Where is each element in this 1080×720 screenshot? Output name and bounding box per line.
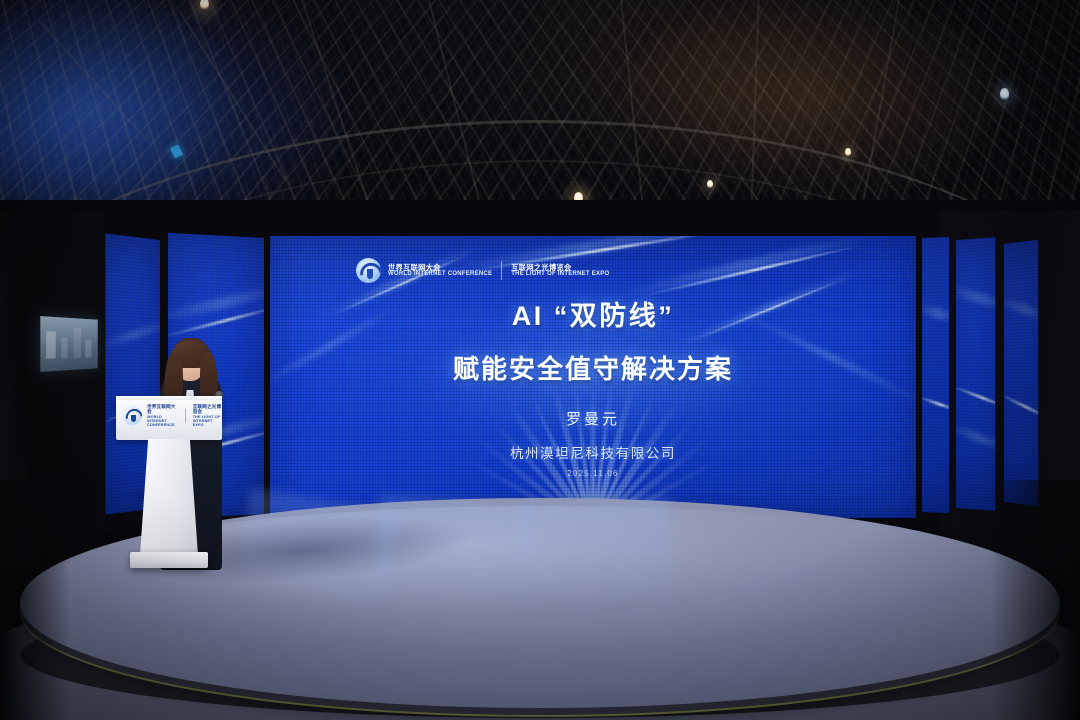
led-panel-right-outer xyxy=(1004,240,1038,507)
wic-logo-right-text: 互联网之光博览会 The Light of Internet Expo xyxy=(511,264,609,278)
led-panel-right-inner xyxy=(922,237,949,513)
podium-expo-en: The Light of Internet Expo xyxy=(193,415,222,427)
podium-logo: 世界互联网大会 World Internet Conference 互联网之光博… xyxy=(123,405,222,427)
podium-logo-left-text: 世界互联网大会 World Internet Conference xyxy=(147,405,178,427)
slide-title-line1: AI “双防线” xyxy=(270,294,916,333)
podium-logo-right-text: 互联网之光博览会 The Light of Internet Expo xyxy=(193,405,222,427)
led-light-streaks xyxy=(956,237,995,511)
wic-logo-en: World Internet Conference xyxy=(388,271,492,277)
conference-stage-scene: 世界互联网大会 World Internet Conference 互联网之光博… xyxy=(0,0,1080,720)
led-panel-right-middle xyxy=(956,237,995,511)
logo-divider xyxy=(501,261,502,280)
slide-footer-block: 杭州漠坦尼科技有限公司 2025.11.06 xyxy=(270,442,916,478)
wic-logo: 世界互联网大会 World Internet Conference 互联网之光博… xyxy=(356,258,609,283)
slide-title-block: AI “双防线” 赋能安全值守解决方案 罗曼元 xyxy=(270,294,916,429)
ceiling-spotlight xyxy=(707,180,713,189)
wic-swirl-icon xyxy=(123,406,142,425)
expo-logo-cn: 互联网之光博览会 xyxy=(511,264,609,272)
led-panel-main: 世界互联网大会 World Internet Conference 互联网之光博… xyxy=(270,236,916,518)
podium-expo-cn: 互联网之光博览会 xyxy=(193,405,222,415)
podium: 世界互联网大会 World Internet Conference 互联网之光博… xyxy=(116,396,222,572)
podium-base xyxy=(130,552,208,568)
ceiling-spotlight xyxy=(845,148,851,157)
slide-company-name: 杭州漠坦尼科技有限公司 xyxy=(270,442,916,462)
ceiling-spotlight xyxy=(200,0,209,11)
podium-top: 世界互联网大会 World Internet Conference 互联网之光博… xyxy=(116,396,222,440)
ceiling-spotlight xyxy=(1000,88,1009,101)
podium-logo-cn: 世界互联网大会 xyxy=(147,405,178,415)
slide-title-line2: 赋能安全值守解决方案 xyxy=(270,349,916,386)
podium-stem xyxy=(140,439,198,555)
wic-logo-cn: 世界互联网大会 xyxy=(388,264,492,272)
led-center-glow xyxy=(313,276,873,456)
led-light-streaks xyxy=(1004,240,1038,507)
slide-speaker-name: 罗曼元 xyxy=(270,408,916,429)
podium-logo-en: World Internet Conference xyxy=(147,415,178,427)
wic-swirl-icon xyxy=(356,258,381,283)
expo-logo-en: The Light of Internet Expo xyxy=(511,271,609,277)
side-display xyxy=(40,316,97,372)
led-light-streaks xyxy=(270,236,916,518)
slide-content: 世界互联网大会 World Internet Conference 互联网之光博… xyxy=(270,236,916,518)
wic-logo-left-text: 世界互联网大会 World Internet Conference xyxy=(388,264,492,278)
slide-date: 2025.11.06 xyxy=(270,469,916,478)
led-light-streaks xyxy=(922,237,949,513)
